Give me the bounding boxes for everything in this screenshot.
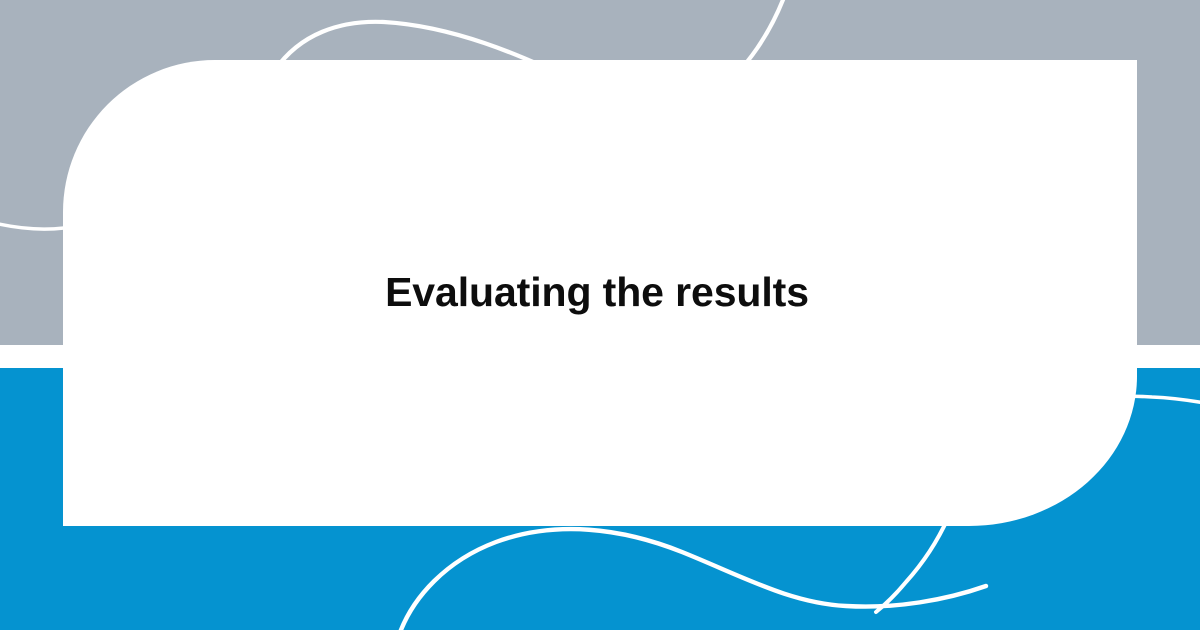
- slide-canvas: Evaluating the results: [0, 0, 1200, 630]
- page-title: Evaluating the results: [385, 269, 815, 316]
- title-container: Evaluating the results: [63, 60, 1137, 526]
